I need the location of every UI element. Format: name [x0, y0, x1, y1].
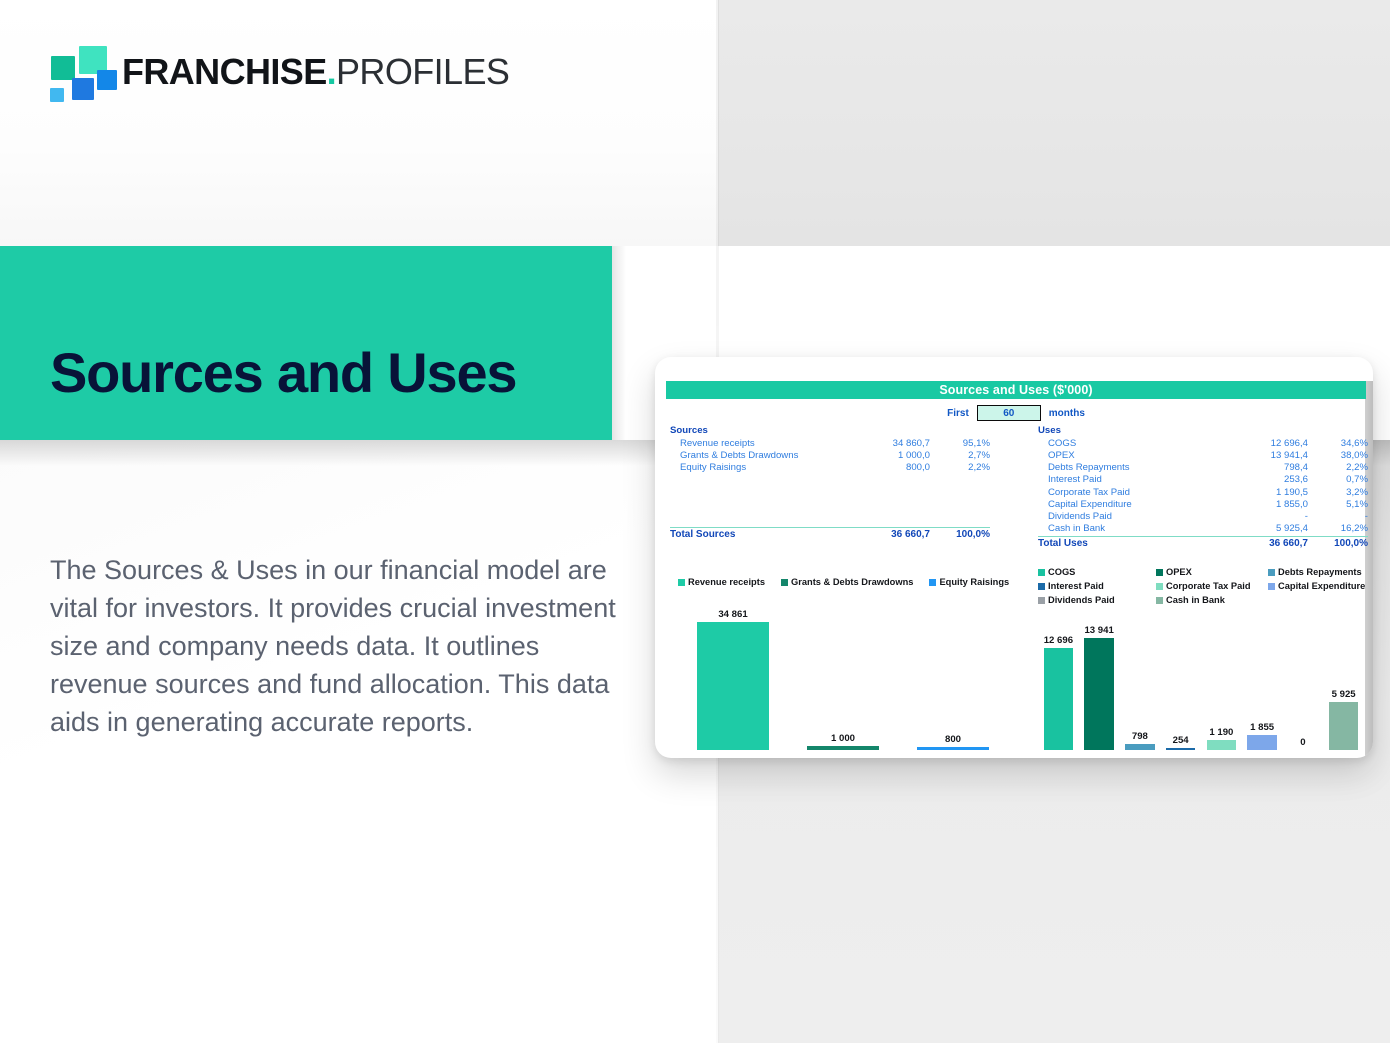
uses-row-label: Capital Expenditure: [1038, 498, 1230, 510]
bar: [697, 622, 770, 750]
legend-label: OPEX: [1166, 567, 1192, 577]
legend-label: Equity Raisings: [939, 577, 1009, 587]
brand-logo[interactable]: FRANCHISE.PROFILES: [48, 44, 509, 100]
bar: [807, 746, 880, 750]
uses-row-percent: 3,2%: [1308, 486, 1368, 498]
uses-row-percent: 34,6%: [1308, 438, 1368, 450]
uses-row-percent: 5,1%: [1308, 498, 1368, 510]
uses-row-label: Dividends Paid: [1038, 511, 1230, 523]
legend-label: COGS: [1048, 567, 1075, 577]
uses-row-amount: 1 855,0: [1230, 498, 1308, 510]
uses-bar-chart: 12 69613 9417982541 1901 85505 925: [1038, 600, 1364, 750]
sources-row-percent: 2,2%: [930, 462, 990, 474]
sources-total-amount: 36 660,7: [852, 529, 930, 540]
sources-row-amount: 800,0: [852, 462, 930, 474]
brand-name-light: PROFILES: [336, 51, 509, 92]
table-row: Capital Expenditure1 855,05,1%: [1038, 498, 1368, 510]
period-prefix-label: First: [947, 408, 969, 419]
bar-slot: 798: [1120, 600, 1161, 750]
legend-item: Corporate Tax Paid: [1156, 581, 1268, 591]
sources-row-amount: 1 000,0: [852, 450, 930, 462]
table-row: Cash in Bank5 925,416,2%: [1038, 523, 1368, 535]
uses-row-amount: 13 941,4: [1230, 450, 1308, 462]
sources-row-label: Grants & Debts Drawdowns: [670, 450, 852, 462]
bar-value-label: 1 000: [831, 733, 855, 744]
uses-total-amount: 36 660,7: [1230, 538, 1308, 549]
bar-value-label: 254: [1173, 735, 1189, 746]
uses-row-label: Interest Paid: [1038, 474, 1230, 486]
brand-name-dot: .: [327, 51, 336, 92]
bar: [1125, 744, 1154, 750]
uses-row-label: COGS: [1038, 438, 1230, 450]
table-row: Debts Repayments798,42,2%: [1038, 462, 1368, 474]
uses-row-amount: -: [1230, 511, 1308, 523]
table-row: Corporate Tax Paid1 190,53,2%: [1038, 486, 1368, 498]
legend-swatch-icon: [1268, 569, 1275, 576]
bar-slot: 1 855: [1242, 600, 1283, 750]
brand-wordmark: FRANCHISE.PROFILES: [122, 54, 509, 90]
sources-spacer: [670, 474, 990, 526]
table-row: COGS12 696,434,6%: [1038, 438, 1368, 450]
legend-swatch-icon: [1038, 569, 1045, 576]
uses-row-amount: 253,6: [1230, 474, 1308, 486]
sources-row-label: Revenue receipts: [670, 438, 852, 450]
legend-label: Corporate Tax Paid: [1166, 581, 1251, 591]
legend-label: Grants & Debts Drawdowns: [791, 577, 913, 587]
uses-row-percent: 2,2%: [1308, 462, 1368, 474]
bar: [917, 747, 990, 750]
spreadsheet-card: Sources and Uses ($'000) First 60 months…: [655, 357, 1373, 758]
sources-chart-legend: Revenue receiptsGrants & Debts Drawdowns…: [678, 577, 1009, 587]
legend-item: Capital Expenditure: [1268, 581, 1368, 591]
uses-row-percent: 0,7%: [1308, 474, 1368, 486]
sources-row-percent: 95,1%: [930, 438, 990, 450]
spreadsheet-title-bar: Sources and Uses ($'000): [666, 381, 1366, 399]
uses-rows: COGS12 696,434,6%OPEX13 941,438,0%Debts …: [1038, 438, 1368, 536]
bar-value-label: 34 861: [718, 609, 747, 620]
legend-label: Debts Repayments: [1278, 567, 1362, 577]
sources-total-label: Total Sources: [670, 529, 852, 540]
table-row: Equity Raisings800,02,2%: [670, 462, 990, 474]
bar-slot: 0: [1283, 600, 1324, 750]
sources-table: Sources Revenue receipts34 860,795,1%Gra…: [670, 425, 990, 540]
uses-row-percent: -: [1308, 511, 1368, 523]
background-panel-top-left: [0, 0, 718, 246]
bar-slot: 5 925: [1323, 600, 1364, 750]
legend-label: Revenue receipts: [688, 577, 765, 587]
uses-total-percent: 100,0%: [1308, 538, 1368, 549]
period-selector-row: First 60 months: [666, 405, 1366, 421]
legend-swatch-icon: [1156, 569, 1163, 576]
bar-value-label: 798: [1132, 731, 1148, 742]
table-row: Revenue receipts34 860,795,1%: [670, 438, 990, 450]
period-months-input[interactable]: 60: [977, 405, 1041, 421]
bar: [1329, 702, 1358, 750]
uses-row-amount: 5 925,4: [1230, 523, 1308, 535]
sources-total-percent: 100,0%: [930, 529, 990, 540]
uses-row-label: Debts Repayments: [1038, 462, 1230, 474]
bar-value-label: 13 941: [1084, 625, 1113, 636]
legend-item: Equity Raisings: [929, 577, 1009, 587]
legend-item: COGS: [1038, 567, 1156, 577]
legend-swatch-icon: [678, 579, 685, 586]
uses-row-amount: 798,4: [1230, 462, 1308, 474]
legend-swatch-icon: [1156, 583, 1163, 590]
bar-slot: 34 861: [678, 600, 788, 750]
spreadsheet-inner: Sources and Uses ($'000) First 60 months…: [666, 381, 1373, 758]
legend-item: Debts Repayments: [1268, 567, 1368, 577]
bar-slot: 13 941: [1079, 600, 1120, 750]
uses-row-label: OPEX: [1038, 450, 1230, 462]
background-panel-top-right: [718, 0, 1390, 246]
background-panel-bottom-left: [0, 440, 718, 1043]
uses-row-label: Corporate Tax Paid: [1038, 486, 1230, 498]
sources-rows: Revenue receipts34 860,795,1%Grants & De…: [670, 438, 990, 475]
bar-slot: 254: [1160, 600, 1201, 750]
uses-row-amount: 12 696,4: [1230, 438, 1308, 450]
bar-value-label: 5 925: [1332, 689, 1356, 700]
legend-swatch-icon: [929, 579, 936, 586]
sources-row-label: Equity Raisings: [670, 462, 852, 474]
period-suffix-label: months: [1049, 408, 1085, 419]
legend-item: Revenue receipts: [678, 577, 765, 587]
legend-item: Grants & Debts Drawdowns: [781, 577, 913, 587]
legend-swatch-icon: [1268, 583, 1275, 590]
legend-label: Interest Paid: [1048, 581, 1104, 591]
table-row: Interest Paid253,60,7%: [1038, 474, 1368, 486]
body-paragraph: The Sources & Uses in our financial mode…: [50, 551, 616, 741]
page-title: Sources and Uses: [50, 345, 516, 401]
bar: [1084, 638, 1113, 750]
uses-row-amount: 1 190,5: [1230, 486, 1308, 498]
uses-row-percent: 38,0%: [1308, 450, 1368, 462]
bar: [1166, 748, 1195, 750]
sources-total-row: Total Sources 36 660,7 100,0%: [670, 527, 990, 540]
legend-swatch-icon: [1038, 583, 1045, 590]
uses-total-row: Total Uses 36 660,7 100,0%: [1038, 536, 1368, 549]
bar: [1247, 735, 1276, 750]
bar-slot: 1 000: [788, 600, 898, 750]
bar-value-label: 1 190: [1209, 727, 1233, 738]
bar-value-label: 12 696: [1044, 635, 1073, 646]
bar-slot: 1 190: [1201, 600, 1242, 750]
bar: [1044, 648, 1073, 750]
uses-total-label: Total Uses: [1038, 538, 1230, 549]
brand-name-bold: FRANCHISE: [122, 51, 327, 92]
uses-row-label: Cash in Bank: [1038, 523, 1230, 535]
legend-label: Capital Expenditure: [1278, 581, 1365, 591]
bar-slot: 12 696: [1038, 600, 1079, 750]
sources-row-percent: 2,7%: [930, 450, 990, 462]
bar-value-label: 800: [945, 734, 961, 745]
franchise-profiles-logo-icon: [48, 44, 108, 100]
legend-swatch-icon: [781, 579, 788, 586]
bar-slot: 800: [898, 600, 1008, 750]
table-row: Grants & Debts Drawdowns1 000,02,7%: [670, 450, 990, 462]
table-row: OPEX13 941,438,0%: [1038, 450, 1368, 462]
bar: [1207, 740, 1236, 750]
sources-row-amount: 34 860,7: [852, 438, 930, 450]
uses-table: Uses COGS12 696,434,6%OPEX13 941,438,0%D…: [1038, 425, 1368, 549]
spreadsheet-title: Sources and Uses ($'000): [939, 383, 1092, 397]
uses-heading: Uses: [1038, 425, 1368, 438]
uses-row-percent: 16,2%: [1308, 523, 1368, 535]
table-row: Dividends Paid--: [1038, 511, 1368, 523]
bar-value-label: 0: [1300, 737, 1305, 748]
sources-bar-chart: 34 8611 000800: [678, 600, 1008, 750]
bar-value-label: 1 855: [1250, 722, 1274, 733]
legend-item: Interest Paid: [1038, 581, 1156, 591]
legend-item: OPEX: [1156, 567, 1268, 577]
sources-heading: Sources: [670, 425, 990, 438]
